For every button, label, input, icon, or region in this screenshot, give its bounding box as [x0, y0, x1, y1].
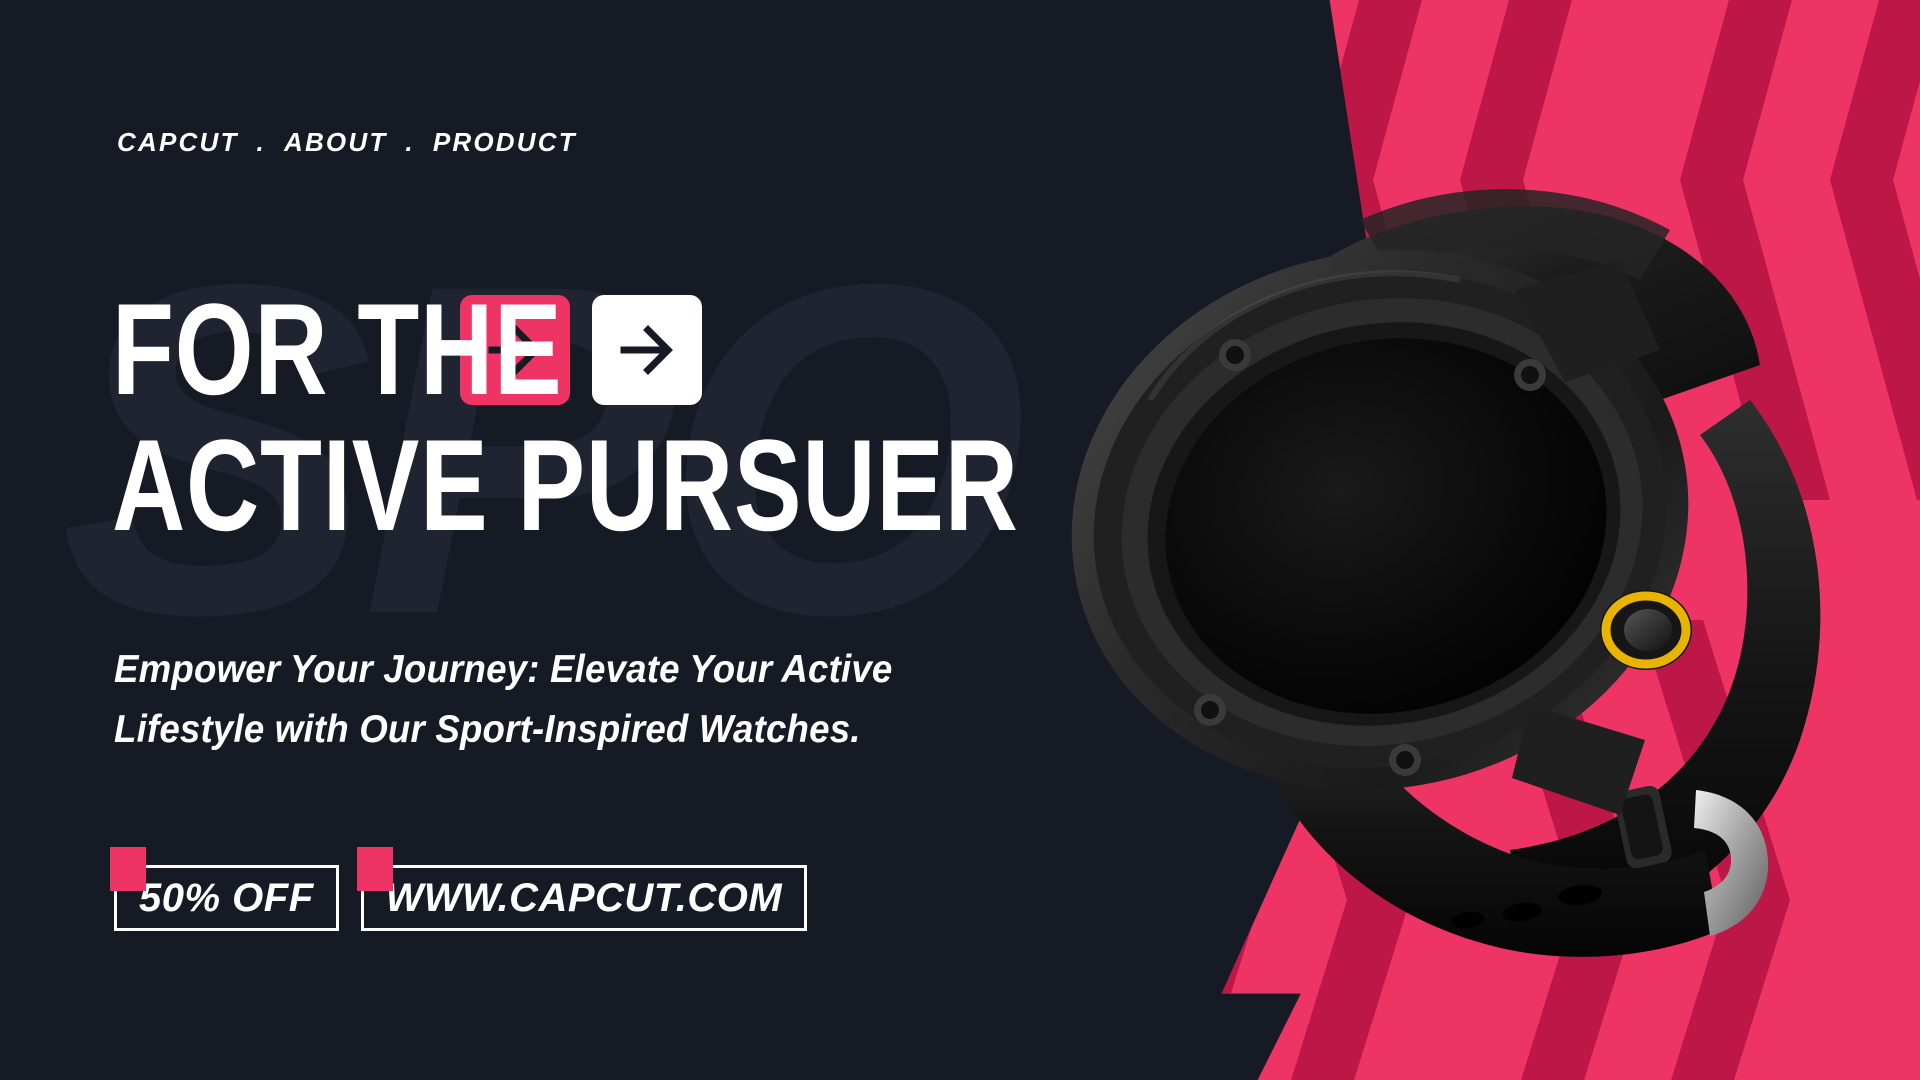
discount-badge[interactable]: 50% OFF	[114, 865, 339, 931]
nav-item-about[interactable]: ABOUT	[284, 127, 387, 158]
arrow-button-secondary[interactable]	[592, 295, 702, 405]
discount-badge-label: 50% OFF	[139, 876, 314, 921]
badge-corner-square	[110, 847, 146, 891]
headline-line-2: ACTIVE PURSUER	[112, 426, 1019, 546]
nav-item-capcut[interactable]: CAPCUT	[117, 127, 239, 158]
top-navigation: CAPCUT . ABOUT . PRODUCT	[117, 127, 577, 158]
badge-box: WWW.CAPCUT.COM	[361, 865, 808, 931]
website-badge-label: WWW.CAPCUT.COM	[386, 876, 783, 921]
nav-separator-dot: .	[387, 127, 432, 158]
headline-row-1: FOR THE	[112, 290, 1274, 410]
hero-headline: FOR THE	[112, 290, 1274, 545]
headline-line-1: FOR THE	[112, 290, 562, 410]
nav-separator-dot: .	[239, 127, 284, 158]
nav-item-product[interactable]: PRODUCT	[433, 127, 577, 158]
badge-box: 50% OFF	[114, 865, 339, 931]
arrow-right-icon	[616, 319, 678, 381]
badge-group: 50% OFF WWW.CAPCUT.COM	[114, 865, 807, 931]
hero-subtitle: Empower Your Journey: Elevate Your Activ…	[114, 640, 893, 761]
website-badge[interactable]: WWW.CAPCUT.COM	[361, 865, 808, 931]
poster-canvas: SPO	[0, 0, 1920, 1080]
badge-corner-square	[357, 847, 393, 891]
headline-row-2: ACTIVE PURSUER	[112, 426, 1274, 546]
